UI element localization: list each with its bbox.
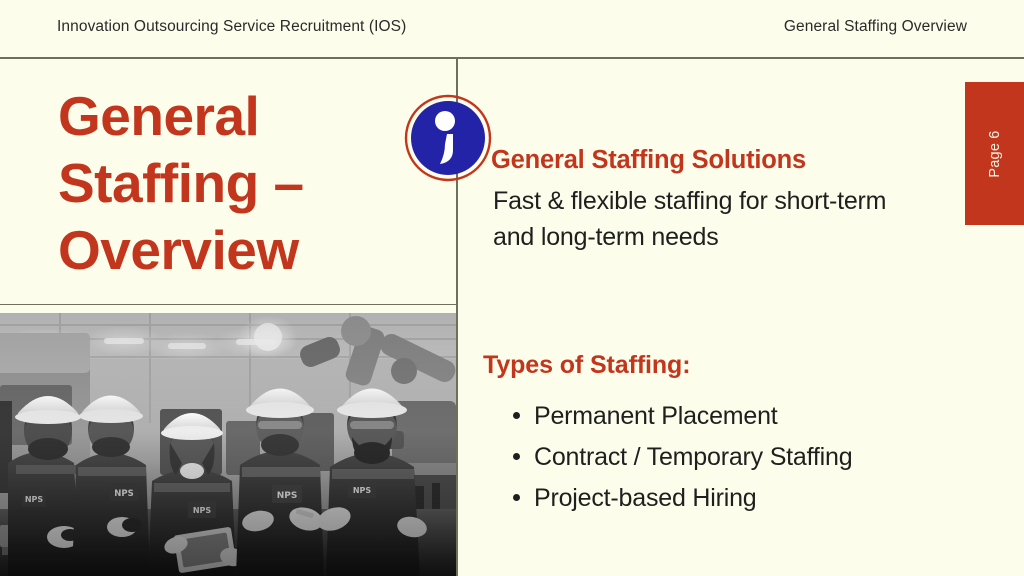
solutions-heading: General Staffing Solutions bbox=[491, 146, 806, 175]
bullet-icon bbox=[513, 412, 520, 419]
team-photo-illustration: NPS NPS bbox=[0, 313, 456, 576]
list-item-label: Project-based Hiring bbox=[534, 484, 757, 512]
page-number-badge: Page 6 bbox=[965, 82, 1024, 225]
page-title: General Staffing – Overview bbox=[58, 83, 438, 284]
types-heading: Types of Staffing: bbox=[483, 351, 690, 380]
types-list: Permanent Placement Contract / Temporary… bbox=[513, 402, 852, 525]
header-divider-line bbox=[0, 57, 1024, 59]
page-number-label: Page 6 bbox=[987, 130, 1003, 177]
list-item: Permanent Placement bbox=[513, 402, 852, 430]
slide: Innovation Outsourcing Service Recruitme… bbox=[0, 0, 1024, 576]
list-item: Project-based Hiring bbox=[513, 484, 852, 512]
list-item-label: Permanent Placement bbox=[534, 402, 778, 430]
bullet-icon bbox=[513, 453, 520, 460]
slide-header: Innovation Outsourcing Service Recruitme… bbox=[0, 0, 1024, 57]
left-column-divider-line bbox=[0, 304, 456, 305]
bullet-icon bbox=[513, 494, 520, 501]
ios-logo-icon bbox=[404, 94, 492, 182]
header-right-text: General Staffing Overview bbox=[784, 18, 967, 36]
list-item-label: Contract / Temporary Staffing bbox=[534, 443, 852, 471]
team-photo: NPS NPS bbox=[0, 313, 456, 576]
solutions-body-text: Fast & flexible staffing for short-term … bbox=[493, 184, 925, 255]
list-item: Contract / Temporary Staffing bbox=[513, 443, 852, 471]
header-left-text: Innovation Outsourcing Service Recruitme… bbox=[57, 18, 406, 36]
